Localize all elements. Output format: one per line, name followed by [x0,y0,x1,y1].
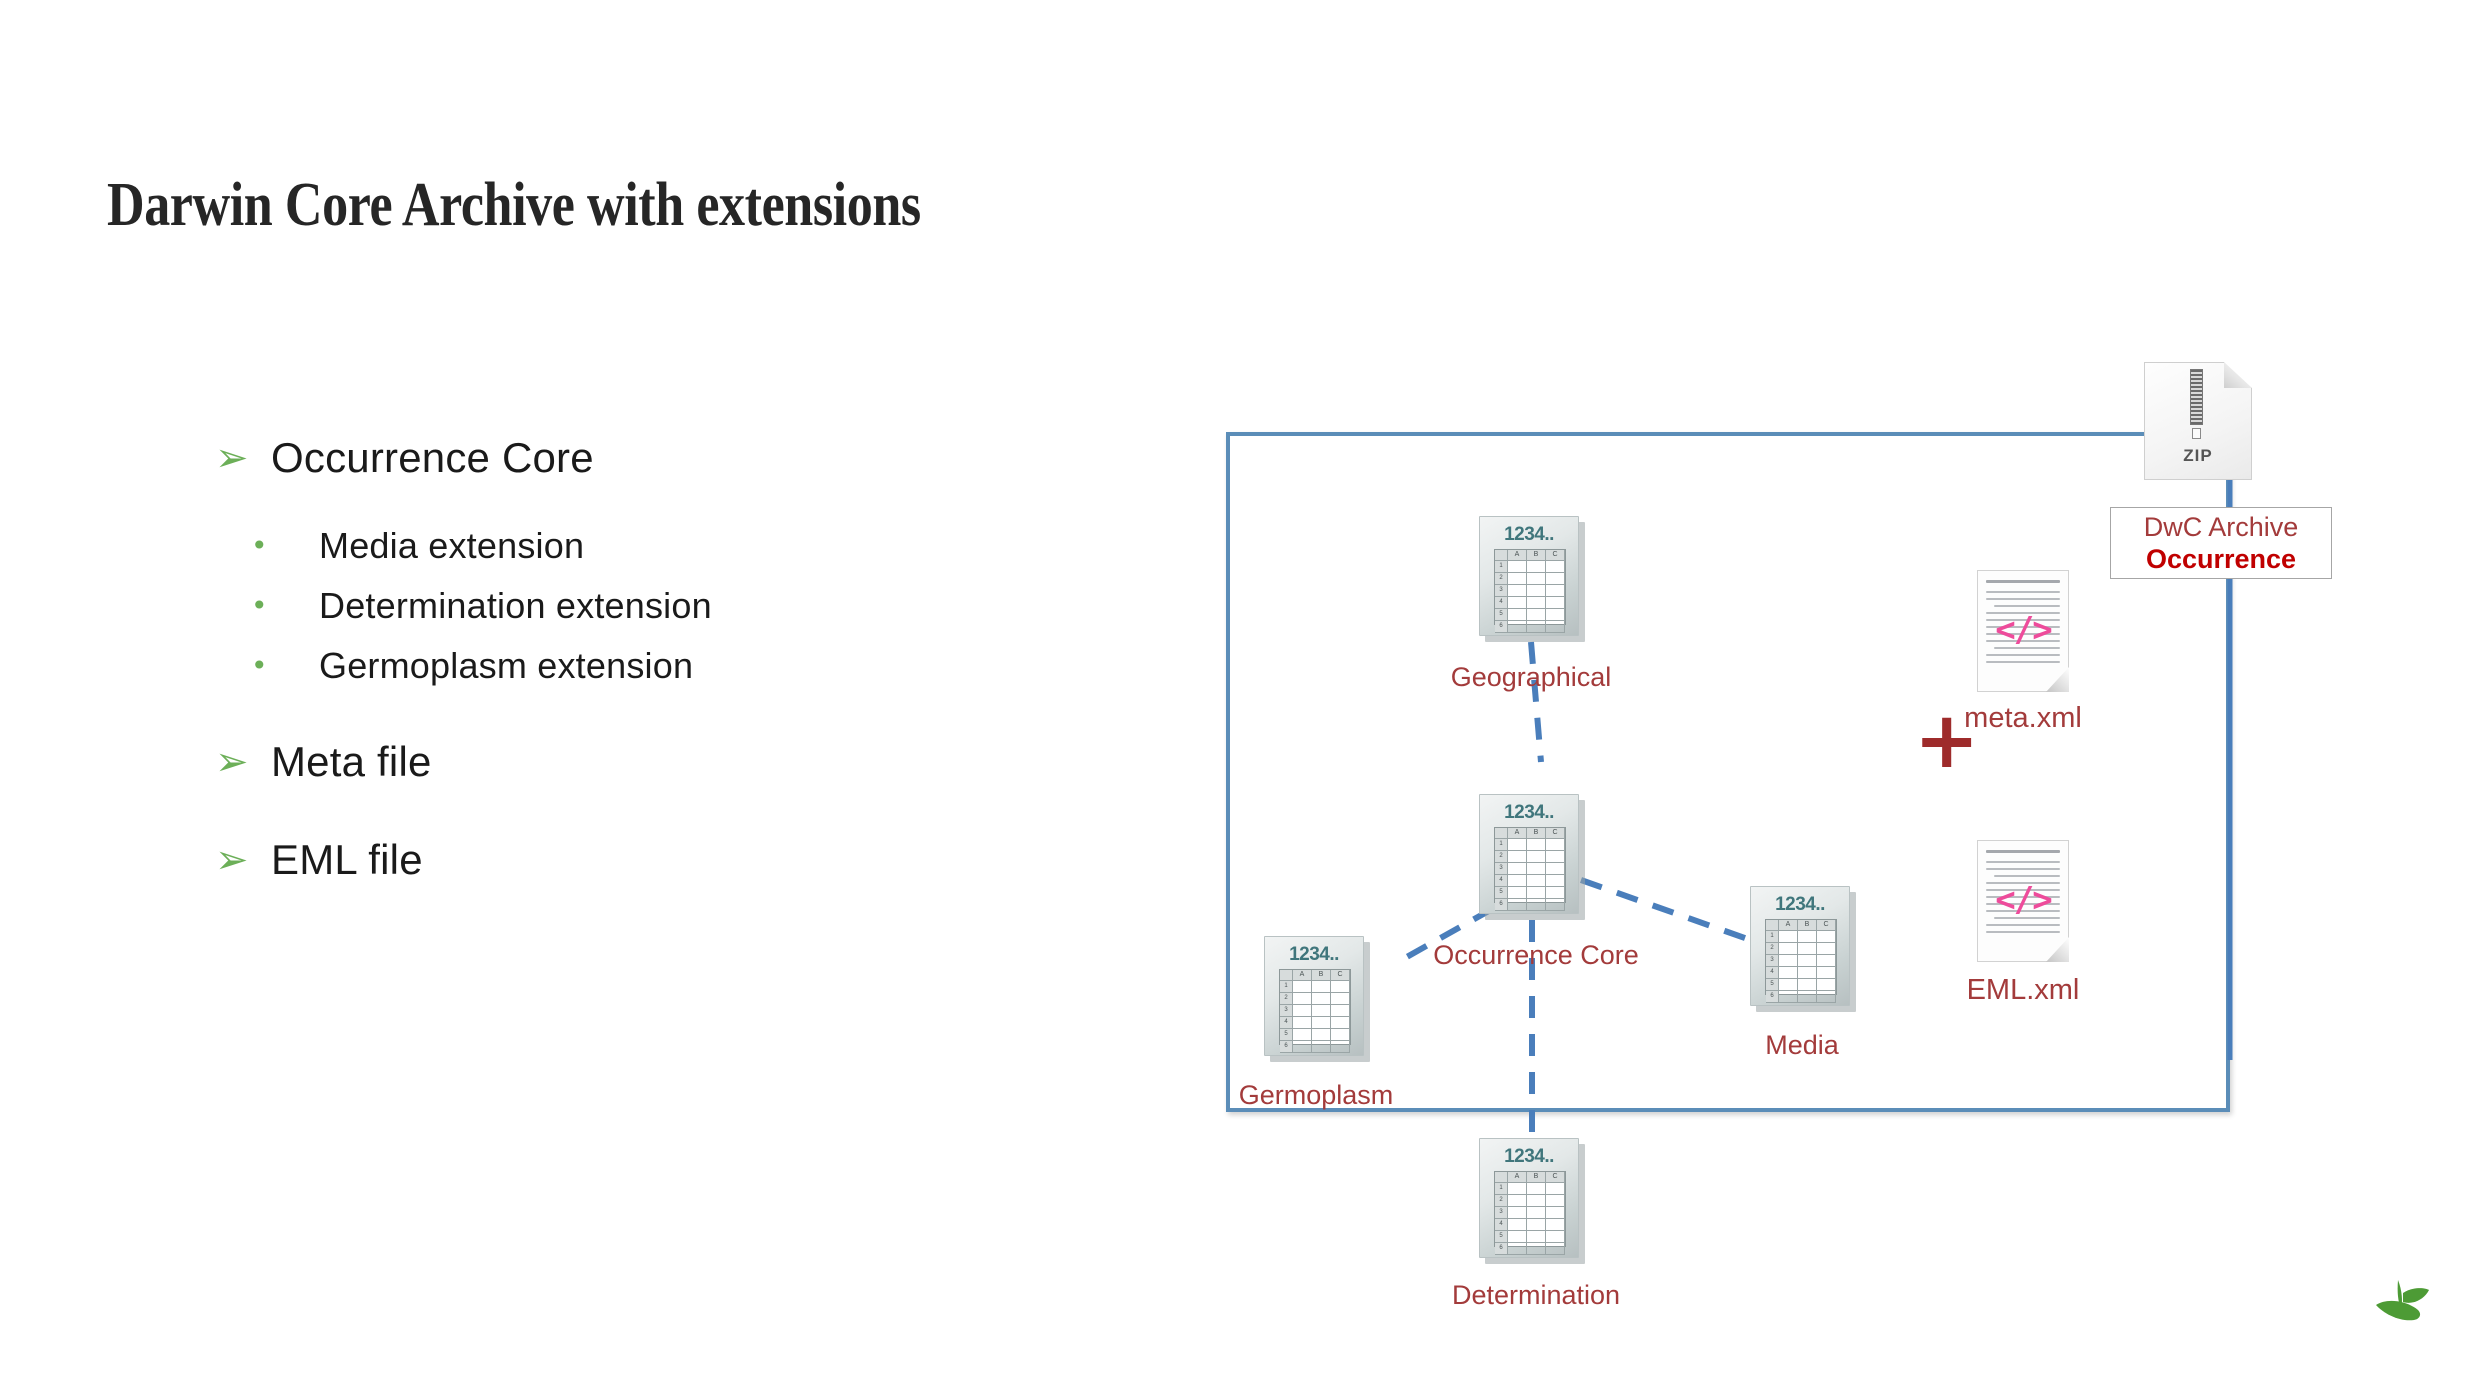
grid-cell [1817,943,1836,955]
node-label-occurrence-core: Occurrence Core [1401,940,1671,971]
grid-cell [1331,1041,1350,1053]
grid-cell [1798,979,1817,991]
file-page: </> [1977,570,2069,692]
grid-cell [1527,839,1546,851]
grid-col-a: A [1508,828,1527,839]
grid-cell [1508,863,1527,875]
grid-cell [1527,899,1546,911]
grid-row-2: 2 [1495,573,1508,585]
list-item-occurrence-core: ➢ Occurrence Core [215,430,1115,486]
list-item-label: Germoplasm extension [319,640,693,692]
node-label-germoplasm: Germoplasm [1201,1080,1431,1111]
table-icon-occurrence-core: 1234.. A B C 1 2 3 4 5 6 [1479,794,1583,920]
grid-cell [1527,573,1546,585]
zip-file-icon: ZIP [2144,362,2252,480]
slide: Darwin Core Archive with extensions ➢ Oc… [0,0,2480,1395]
text-line [1986,654,2060,656]
grid-cell [1817,931,1836,943]
grid-cell [1508,1195,1527,1207]
node-label-determination: Determination [1401,1280,1671,1311]
code-brackets-icon: </> [1978,883,2068,917]
table-icon-germoplasm: 1234.. A B C 1 2 3 4 5 6 [1264,936,1368,1062]
grid-row-3: 3 [1495,1207,1508,1219]
grid-cell [1546,1219,1565,1231]
archive-container-box [1226,432,2230,1112]
text-line [1994,875,2060,877]
grid-row-3: 3 [1495,585,1508,597]
list-item-label: Meta file [271,734,432,790]
grid-cell [1293,1005,1312,1017]
grid-cell [1527,609,1546,621]
grid-cell [1546,1195,1565,1207]
grid-row-6: 6 [1495,1243,1508,1255]
table-grid: A B C 1 2 3 4 5 6 [1494,1171,1566,1247]
grid-cell [1508,1219,1527,1231]
grid-cell [1312,993,1331,1005]
plus-icon: + [1914,702,1979,780]
grid-cell [1546,573,1565,585]
grid-row-6: 6 [1495,899,1508,911]
list-item-label: EML file [271,832,423,888]
grid-cell [1798,943,1817,955]
grid-cell [1331,981,1350,993]
grid-cell [1546,875,1565,887]
table-header-number: 1234.. [1480,1146,1578,1168]
text-line [1986,931,2060,933]
grid-row-2: 2 [1495,1195,1508,1207]
grid-cell [1312,1041,1331,1053]
arrow-bullet-icon: ➢ [215,430,271,486]
zipper-pull-icon [2192,428,2201,439]
grid-cell [1293,993,1312,1005]
grid-cell [1546,561,1565,573]
grid-row-6: 6 [1495,621,1508,633]
icon-card: 1234.. A B C 1 2 3 4 5 6 [1479,794,1579,914]
grid-cell [1546,585,1565,597]
grid-cell [1817,979,1836,991]
file-label-eml-xml: EML.xml [1926,974,2120,1007]
table-grid: A B C 1 2 3 4 5 6 [1279,969,1351,1045]
text-line [1986,868,2060,870]
node-label-media: Media [1687,1030,1917,1061]
grid-cell [1527,1231,1546,1243]
grid-cell [1546,863,1565,875]
grid-row-3: 3 [1766,955,1779,967]
table-header-number: 1234.. [1480,524,1578,546]
icon-card: 1234.. A B C 1 2 3 4 5 6 [1479,1138,1579,1258]
grid-cell [1508,1207,1527,1219]
grid-cell [1293,1041,1312,1053]
grid-corner [1495,1172,1508,1183]
table-grid: A B C 1 2 3 4 5 6 [1494,549,1566,625]
grid-cell [1312,1005,1331,1017]
list-item-label: Determination extension [319,580,712,632]
grid-cell [1508,573,1527,585]
grid-row-3: 3 [1280,1005,1293,1017]
table-icon-determination: 1234.. A B C 1 2 3 4 5 6 [1479,1138,1583,1264]
grid-row-4: 4 [1495,1219,1508,1231]
grid-cell [1527,1195,1546,1207]
grid-cell [1798,967,1817,979]
grid-row-1: 1 [1495,839,1508,851]
table-header-number: 1234.. [1751,894,1849,916]
text-line [1986,924,2060,926]
seedling-logo-icon [2372,1272,2442,1332]
grid-cell [1527,597,1546,609]
spacer [215,700,1115,734]
grid-cell [1798,931,1817,943]
grid-cell [1527,863,1546,875]
grid-cell [1331,1005,1350,1017]
grid-cell [1527,887,1546,899]
grid-cell [1527,1219,1546,1231]
table-grid: A B C 1 2 3 4 5 6 [1494,827,1566,903]
grid-cell [1312,1029,1331,1041]
grid-cell [1546,1207,1565,1219]
grid-row-4: 4 [1495,597,1508,609]
grid-cell [1508,875,1527,887]
dot-bullet-icon: • [251,640,319,692]
node-label-geographical: Geographical [1416,662,1646,693]
grid-col-c: C [1546,828,1565,839]
grid-col-a: A [1779,920,1798,931]
list-item-determination-extension: • Determination extension [215,580,1115,632]
grid-cell [1508,887,1527,899]
grid-cell [1312,1017,1331,1029]
grid-cell [1527,1207,1546,1219]
grid-col-b: B [1527,550,1546,561]
xml-file-icon-eml: </> [1977,840,2069,962]
zip-label: ZIP [2144,446,2252,466]
grid-corner [1280,970,1293,981]
grid-cell [1779,967,1798,979]
grid-cell [1331,1029,1350,1041]
grid-col-c: C [1331,970,1350,981]
list-item-germoplasm-extension: • Germoplasm extension [215,640,1115,692]
grid-col-b: B [1312,970,1331,981]
dwc-archive-subtitle: Occurrence [2146,543,2296,575]
grid-cell [1508,1231,1527,1243]
grid-row-1: 1 [1280,981,1293,993]
bullet-list: ➢ Occurrence Core • Media extension • De… [215,430,1115,896]
grid-cell [1331,993,1350,1005]
icon-card: 1234.. A B C 1 2 3 4 5 6 [1479,516,1579,636]
table-icon-media: 1234.. A B C 1 2 3 4 5 6 [1750,886,1854,1012]
grid-col-c: C [1817,920,1836,931]
grid-cell [1508,585,1527,597]
grid-cell [1508,621,1527,633]
dot-bullet-icon: • [251,520,319,572]
text-line [1986,591,2060,593]
grid-row-5: 5 [1495,1231,1508,1243]
grid-cell [1527,1243,1546,1255]
arrow-bullet-icon: ➢ [215,734,271,790]
grid-cell [1293,1029,1312,1041]
grid-cell [1546,1231,1565,1243]
dwc-archive-label-box: DwC Archive Occurrence [2110,507,2332,579]
text-line [1986,598,2060,600]
grid-row-5: 5 [1495,609,1508,621]
page-title: Darwin Core Archive with extensions [107,170,921,241]
table-grid: A B C 1 2 3 4 5 6 [1765,919,1837,995]
grid-col-c: C [1546,1172,1565,1183]
dwc-archive-title: DwC Archive [2144,511,2299,543]
grid-cell [1546,839,1565,851]
grid-col-c: C [1546,550,1565,561]
icon-card: 1234.. A B C 1 2 3 4 5 6 [1750,886,1850,1006]
grid-row-4: 4 [1766,967,1779,979]
grid-col-a: A [1508,550,1527,561]
grid-cell [1546,887,1565,899]
text-line [1986,850,2060,853]
grid-cell [1546,1243,1565,1255]
grid-cell [1527,585,1546,597]
text-line [1986,861,2060,863]
grid-cell [1546,609,1565,621]
spacer [215,798,1115,832]
list-item-label: Occurrence Core [271,430,594,486]
zipper-icon [2190,369,2203,425]
xml-file-icon-meta: </> [1977,570,2069,692]
grid-row-6: 6 [1766,991,1779,1003]
grid-row-1: 1 [1495,1183,1508,1195]
grid-row-4: 4 [1280,1017,1293,1029]
grid-row-2: 2 [1766,943,1779,955]
table-header-number: 1234.. [1265,944,1363,966]
grid-cell [1527,561,1546,573]
grid-cell [1779,979,1798,991]
grid-row-1: 1 [1495,561,1508,573]
grid-cell [1508,899,1527,911]
grid-cell [1546,597,1565,609]
grid-cell [1798,991,1817,1003]
text-line [1986,661,2060,663]
list-item-label: Media extension [319,520,584,572]
grid-cell [1293,1017,1312,1029]
grid-cell [1508,597,1527,609]
dot-bullet-icon: • [251,580,319,632]
grid-col-a: A [1293,970,1312,981]
grid-cell [1546,851,1565,863]
grid-cell [1527,621,1546,633]
grid-cell [1508,839,1527,851]
grid-cell [1508,609,1527,621]
grid-cell [1546,621,1565,633]
grid-row-5: 5 [1280,1029,1293,1041]
grid-cell [1508,561,1527,573]
grid-cell [1527,1183,1546,1195]
grid-col-a: A [1508,1172,1527,1183]
spacer [215,494,1115,520]
grid-row-3: 3 [1495,863,1508,875]
grid-cell [1546,1183,1565,1195]
grid-col-b: B [1527,1172,1546,1183]
grid-row-2: 2 [1495,851,1508,863]
list-item-eml-file: ➢ EML file [215,832,1115,888]
list-item-media-extension: • Media extension [215,520,1115,572]
grid-corner [1495,828,1508,839]
grid-cell [1798,955,1817,967]
grid-corner [1495,550,1508,561]
grid-row-5: 5 [1766,979,1779,991]
list-item-meta-file: ➢ Meta file [215,734,1115,790]
text-line [1994,605,2060,607]
grid-cell [1817,955,1836,967]
arrow-bullet-icon: ➢ [215,832,271,888]
grid-cell [1293,981,1312,993]
grid-cell [1508,851,1527,863]
text-line [1986,580,2060,583]
grid-col-b: B [1527,828,1546,839]
grid-cell [1508,1243,1527,1255]
table-icon-geographical: 1234.. A B C 1 2 3 4 5 6 [1479,516,1583,642]
icon-card: 1234.. A B C 1 2 3 4 5 6 [1264,936,1364,1056]
grid-cell [1817,991,1836,1003]
grid-cell [1779,991,1798,1003]
grid-row-6: 6 [1280,1041,1293,1053]
file-page: </> [1977,840,2069,962]
dwc-archive-diagram: 1234.. A B C 1 2 3 4 5 6 Geographical [1226,380,2236,1140]
code-brackets-icon: </> [1978,613,2068,647]
grid-row-2: 2 [1280,993,1293,1005]
grid-corner [1766,920,1779,931]
grid-row-5: 5 [1495,887,1508,899]
grid-cell [1312,981,1331,993]
grid-row-4: 4 [1495,875,1508,887]
grid-cell [1779,931,1798,943]
grid-cell [1527,851,1546,863]
grid-col-b: B [1798,920,1817,931]
grid-cell [1817,967,1836,979]
grid-cell [1546,899,1565,911]
grid-cell [1779,955,1798,967]
table-header-number: 1234.. [1480,802,1578,824]
grid-cell [1527,875,1546,887]
grid-cell [1508,1183,1527,1195]
grid-cell [1779,943,1798,955]
grid-row-1: 1 [1766,931,1779,943]
grid-cell [1331,1017,1350,1029]
